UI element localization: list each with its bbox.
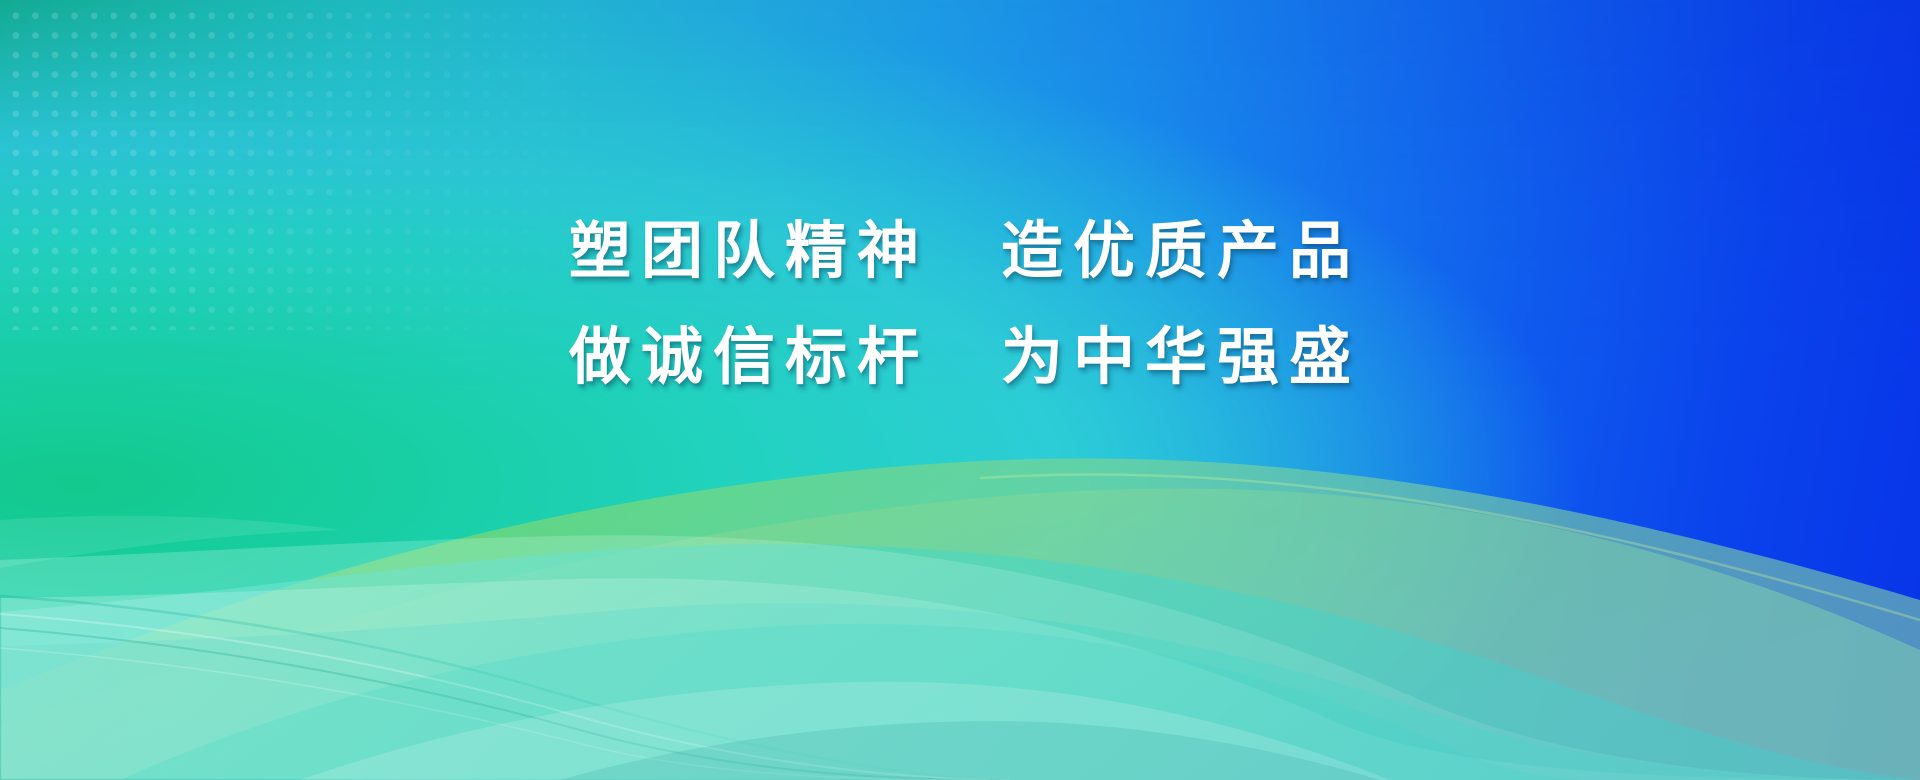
wave-decoration <box>0 0 1920 780</box>
corporate-culture-banner: 塑团队精神 造优质产品 做诚信标杆 为中华强盛 <box>0 0 1920 780</box>
